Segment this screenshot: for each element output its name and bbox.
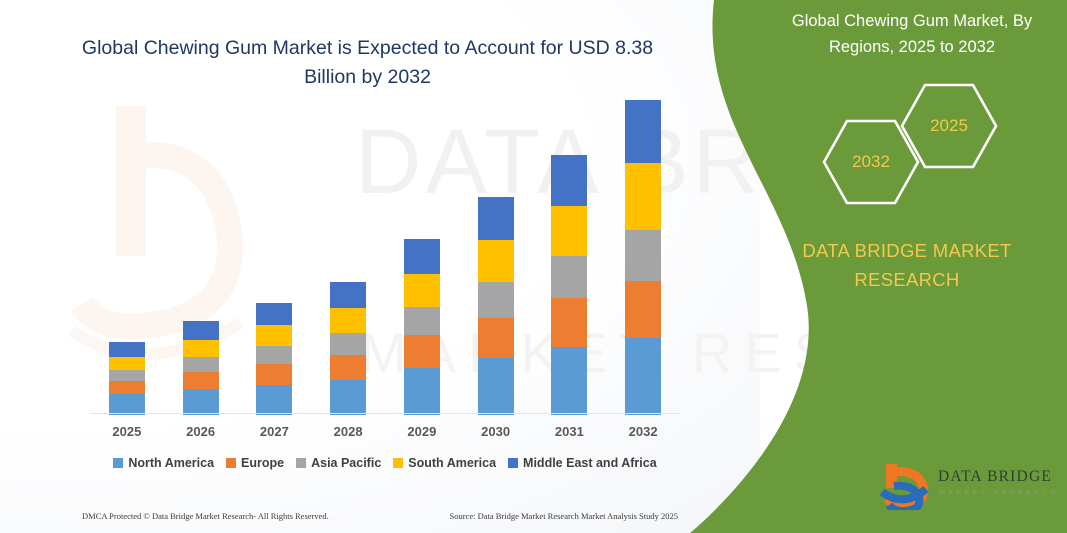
bar-segment <box>330 380 366 415</box>
legend-swatch-icon <box>508 458 518 468</box>
bar-segment <box>478 318 514 358</box>
bar-segment <box>625 163 661 230</box>
bar-segment <box>625 230 661 280</box>
bar-2026 <box>183 321 219 415</box>
bar-segment <box>109 394 145 415</box>
bar-segment <box>551 256 587 299</box>
chart-legend: North AmericaEuropeAsia PacificSouth Ame… <box>90 456 680 470</box>
bar-segment <box>109 357 145 370</box>
bar-segment <box>183 340 219 357</box>
bar-segment <box>256 385 292 415</box>
legend-item-asia-pacific[interactable]: Asia Pacific <box>296 456 381 470</box>
legend-label: Middle East and Africa <box>523 456 657 470</box>
bar-segment <box>404 335 440 368</box>
bar-segment <box>330 355 366 380</box>
x-axis-label-2026: 2026 <box>171 424 231 439</box>
x-axis-label-2028: 2028 <box>318 424 378 439</box>
bar-2031 <box>551 155 587 415</box>
infographic-canvas: DATA BRIDGE MARKET RESEARCH Global Chewi… <box>0 0 1067 533</box>
legend-item-north-america[interactable]: North America <box>113 456 214 470</box>
legend-item-south-america[interactable]: South America <box>393 456 496 470</box>
bar-segment <box>625 338 661 415</box>
bar-chart-plot-area <box>90 100 680 415</box>
x-axis-labels: 20252026202720282029203020312032 <box>90 424 680 446</box>
bar-segment <box>404 368 440 415</box>
hexagon-year-badges: 2032 2025 <box>822 95 1022 205</box>
bar-segment <box>478 358 514 415</box>
bar-2032 <box>625 100 661 415</box>
logo-wordmark: DATA BRIDGE <box>938 468 1052 486</box>
legend-label: Asia Pacific <box>311 456 381 470</box>
bar-segment <box>109 381 145 395</box>
bar-segment <box>330 282 366 308</box>
bar-segment <box>551 155 587 206</box>
panel-title: Global Chewing Gum Market, By Regions, 2… <box>762 8 1062 60</box>
x-axis-label-2032: 2032 <box>613 424 673 439</box>
bar-segment <box>330 333 366 356</box>
bar-2027 <box>256 303 292 415</box>
data-bridge-logo: DATA BRIDGE MARKET RESEARCH <box>880 460 1060 512</box>
x-axis-label-2025: 2025 <box>97 424 157 439</box>
hexagon-badge-2025: 2025 <box>900 83 998 169</box>
hexagon-label-2025: 2025 <box>900 83 998 169</box>
footer-copyright: DMCA Protected © Data Bridge Market Rese… <box>82 511 329 521</box>
chart-title: Global Chewing Gum Market is Expected to… <box>60 34 675 92</box>
panel-brand-text: DATA BRIDGE MARKET RESEARCH <box>752 236 1062 294</box>
bar-2028 <box>330 282 366 415</box>
bar-segment <box>478 197 514 240</box>
bar-segment <box>625 100 661 163</box>
x-axis-label-2031: 2031 <box>539 424 599 439</box>
panel-brand-line-1: DATA BRIDGE MARKET <box>752 236 1062 265</box>
x-axis-label-2027: 2027 <box>244 424 304 439</box>
bar-2025 <box>109 342 145 415</box>
bar-segment <box>256 325 292 346</box>
legend-label: North America <box>128 456 214 470</box>
legend-item-middle-east-and-africa[interactable]: Middle East and Africa <box>508 456 657 470</box>
x-axis-label-2030: 2030 <box>466 424 526 439</box>
bar-segment <box>478 282 514 318</box>
footer-source: Source: Data Bridge Market Research Mark… <box>449 511 678 521</box>
bar-segment <box>478 240 514 281</box>
bar-segment <box>183 321 219 340</box>
chart-baseline <box>90 413 680 414</box>
footer: DMCA Protected © Data Bridge Market Rese… <box>82 508 682 524</box>
bar-segment <box>404 307 440 336</box>
bar-segment <box>183 389 219 415</box>
bar-segment <box>404 239 440 274</box>
bar-segment <box>109 370 145 381</box>
bar-segment <box>551 347 587 415</box>
panel-brand-line-2: RESEARCH <box>752 265 1062 294</box>
bar-segment <box>625 281 661 338</box>
bar-segment <box>183 357 219 372</box>
bar-segment <box>256 303 292 325</box>
legend-label: South America <box>408 456 496 470</box>
x-axis-label-2029: 2029 <box>392 424 452 439</box>
legend-swatch-icon <box>113 458 123 468</box>
bar-segment <box>404 274 440 307</box>
bar-2030 <box>478 197 514 415</box>
bar-segment <box>183 372 219 389</box>
green-panel-content: Global Chewing Gum Market, By Regions, 2… <box>712 0 1067 533</box>
legend-swatch-icon <box>226 458 236 468</box>
bar-segment <box>551 206 587 256</box>
legend-swatch-icon <box>296 458 306 468</box>
bar-segment <box>330 308 366 333</box>
bar-segment <box>551 298 587 346</box>
bar-2029 <box>404 239 440 415</box>
bar-segment <box>256 346 292 364</box>
legend-label: Europe <box>241 456 284 470</box>
legend-swatch-icon <box>393 458 403 468</box>
logo-tagline: MARKET RESEARCH <box>939 488 1059 497</box>
data-bridge-b-logo-icon <box>880 462 932 510</box>
bar-segment <box>109 342 145 356</box>
bar-segment <box>256 364 292 385</box>
legend-item-europe[interactable]: Europe <box>226 456 284 470</box>
